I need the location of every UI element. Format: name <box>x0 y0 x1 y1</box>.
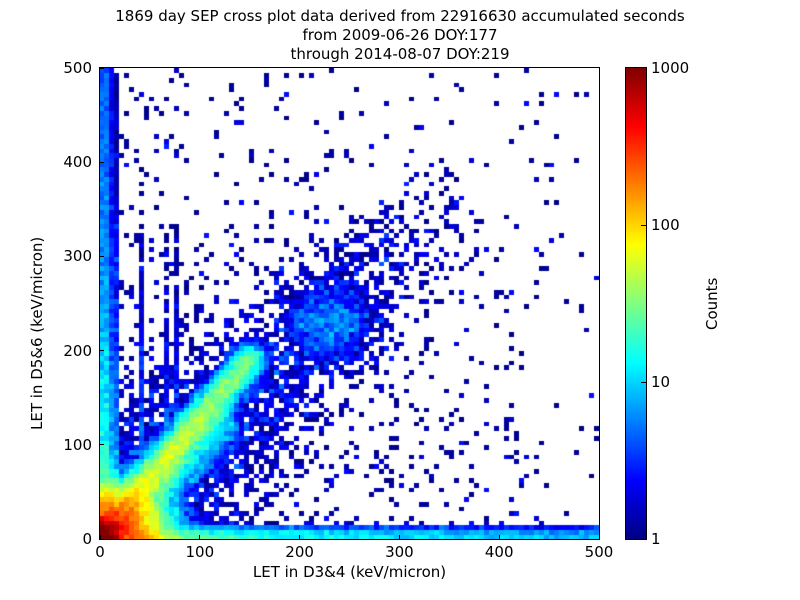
colorbar-tick-10 <box>641 382 646 383</box>
x-tick-500 <box>599 535 600 539</box>
density-heatmap <box>100 68 599 539</box>
plot-area <box>99 67 600 540</box>
chart-title-line-1: 1869 day SEP cross plot data derived fro… <box>0 7 800 26</box>
chart-title: 1869 day SEP cross plot data derived fro… <box>0 7 800 64</box>
colorbar-tick-label-100: 100 <box>651 216 680 234</box>
x-tick-label-300: 300 <box>385 543 414 561</box>
y-tick-label-200: 200 <box>40 342 92 360</box>
colorbar-tick-label-1000: 1000 <box>651 59 689 77</box>
figure-canvas: 1869 day SEP cross plot data derived fro… <box>0 0 800 600</box>
y-tick-500 <box>100 68 104 69</box>
x-tick-200 <box>299 535 300 539</box>
colorbar-tick-label-10: 10 <box>651 373 670 391</box>
y-tick-label-400: 400 <box>40 153 92 171</box>
x-tick-label-0: 0 <box>95 543 105 561</box>
y-tick-300 <box>100 256 104 257</box>
x-tick-100 <box>199 535 200 539</box>
x-tick-400 <box>499 535 500 539</box>
x-tick-label-200: 200 <box>285 543 314 561</box>
y-tick-label-300: 300 <box>40 247 92 265</box>
x-tick-300 <box>399 535 400 539</box>
colorbar-tick-label-1: 1 <box>651 530 661 548</box>
x-tick-label-100: 100 <box>185 543 214 561</box>
y-tick-label-0: 0 <box>40 530 92 548</box>
y-tick-0 <box>100 539 104 540</box>
y-axis-label: LET in D5&6 (keV/micron) <box>28 237 46 430</box>
x-tick-label-500: 500 <box>585 543 614 561</box>
colorbar-gradient <box>626 68 646 539</box>
y-tick-label-500: 500 <box>40 59 92 77</box>
colorbar-label: Counts <box>703 278 721 330</box>
y-tick-label-100: 100 <box>40 436 92 454</box>
y-tick-400 <box>100 162 104 163</box>
x-tick-label-400: 400 <box>485 543 514 561</box>
x-axis-label: LET in D3&4 (keV/micron) <box>99 563 600 581</box>
colorbar <box>625 67 647 540</box>
y-tick-200 <box>100 350 104 351</box>
y-tick-100 <box>100 444 104 445</box>
chart-title-line-2: from 2009-06-26 DOY:177 <box>0 26 800 45</box>
colorbar-tick-100 <box>641 225 646 226</box>
